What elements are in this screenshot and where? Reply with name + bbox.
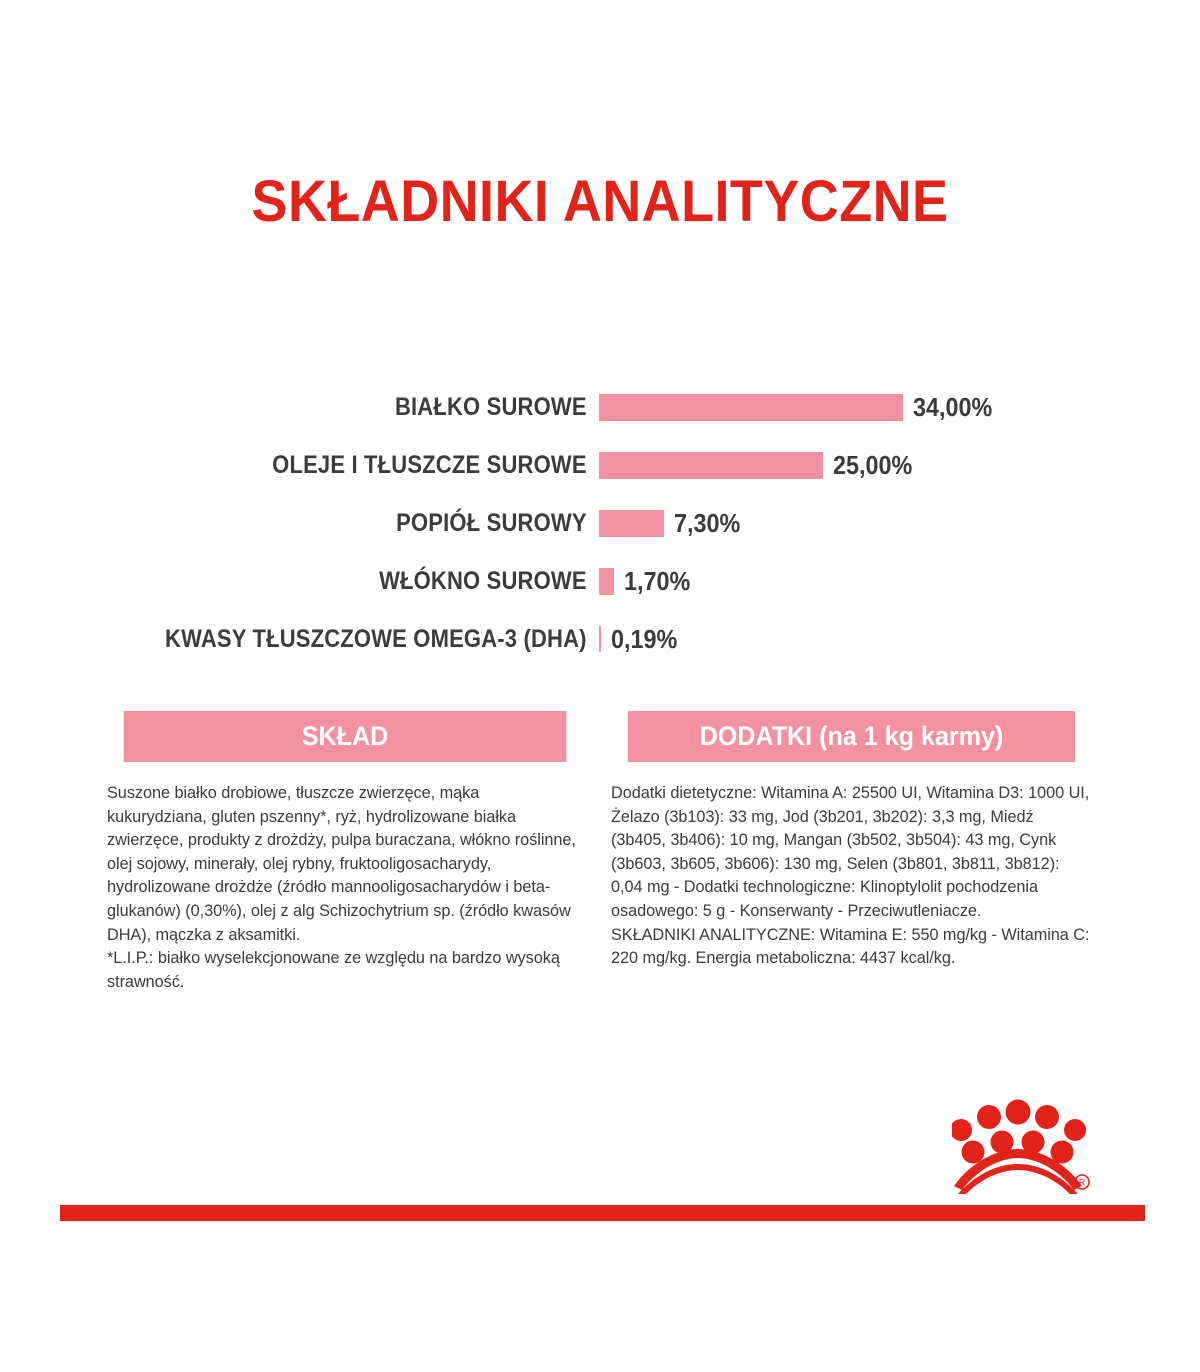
chart-bar [599,452,823,479]
chart-row-value: 7,30% [674,508,740,539]
info-columns: SKŁAD Suszone białko drobiowe, tłuszcze … [107,711,1092,994]
chart-bar-wrap: 1,70% [599,566,1200,597]
chart-row-label: WŁÓKNO SUROWE [72,567,599,596]
chart-bar [599,510,664,537]
chart-row-label: KWASY TŁUSZCZOWE OMEGA-3 (DHA) [72,625,599,654]
composition-column: SKŁAD Suszone białko drobiowe, tłuszcze … [107,711,583,994]
chart-bar-wrap: 0,19% [599,624,1200,655]
chart-row-value: 34,00% [913,392,992,423]
additives-header: DODATKI (na 1 kg karmy) [628,711,1075,762]
bottom-accent-bar [60,1205,1145,1221]
chart-row-label: OLEJE I TŁUSZCZE SUROWE [72,451,599,480]
chart-row: WŁÓKNO SUROWE 1,70% [0,552,1200,610]
page-title: SKŁADNIKI ANALITYCZNE [42,168,1158,235]
chart-row-value: 25,00% [833,450,912,481]
chart-row-value: 0,19% [611,624,677,655]
chart-bar [599,626,601,652]
crown-icon: R [952,1094,1092,1194]
analytical-constituents-chart: BIAŁKO SUROWE 34,00% OLEJE I TŁUSZCZE SU… [0,378,1200,668]
composition-header: SKŁAD [124,711,567,762]
chart-bar [599,568,614,595]
chart-bar-wrap: 25,00% [599,450,1200,481]
additives-column: DODATKI (na 1 kg karmy) Dodatki dietetyc… [611,711,1092,994]
chart-bar-wrap: 34,00% [599,392,1200,423]
chart-row: KWASY TŁUSZCZOWE OMEGA-3 (DHA) 0,19% [0,610,1200,668]
royal-canin-crown-logo: R [952,1094,1092,1194]
chart-row: OLEJE I TŁUSZCZE SUROWE 25,00% [0,436,1200,494]
chart-bar-wrap: 7,30% [599,508,1200,539]
chart-row-label: BIAŁKO SUROWE [72,393,599,422]
svg-text:R: R [1079,1178,1086,1188]
chart-row: POPIÓŁ SUROWY 7,30% [0,494,1200,552]
additives-body: Dodatki dietetyczne: Witamina A: 25500 U… [611,782,1092,971]
chart-row-label: POPIÓŁ SUROWY [72,509,599,538]
chart-bar [599,394,903,421]
composition-body: Suszone białko drobiowe, tłuszcze zwierz… [107,782,583,994]
chart-row: BIAŁKO SUROWE 34,00% [0,378,1200,436]
chart-row-value: 1,70% [624,566,690,597]
